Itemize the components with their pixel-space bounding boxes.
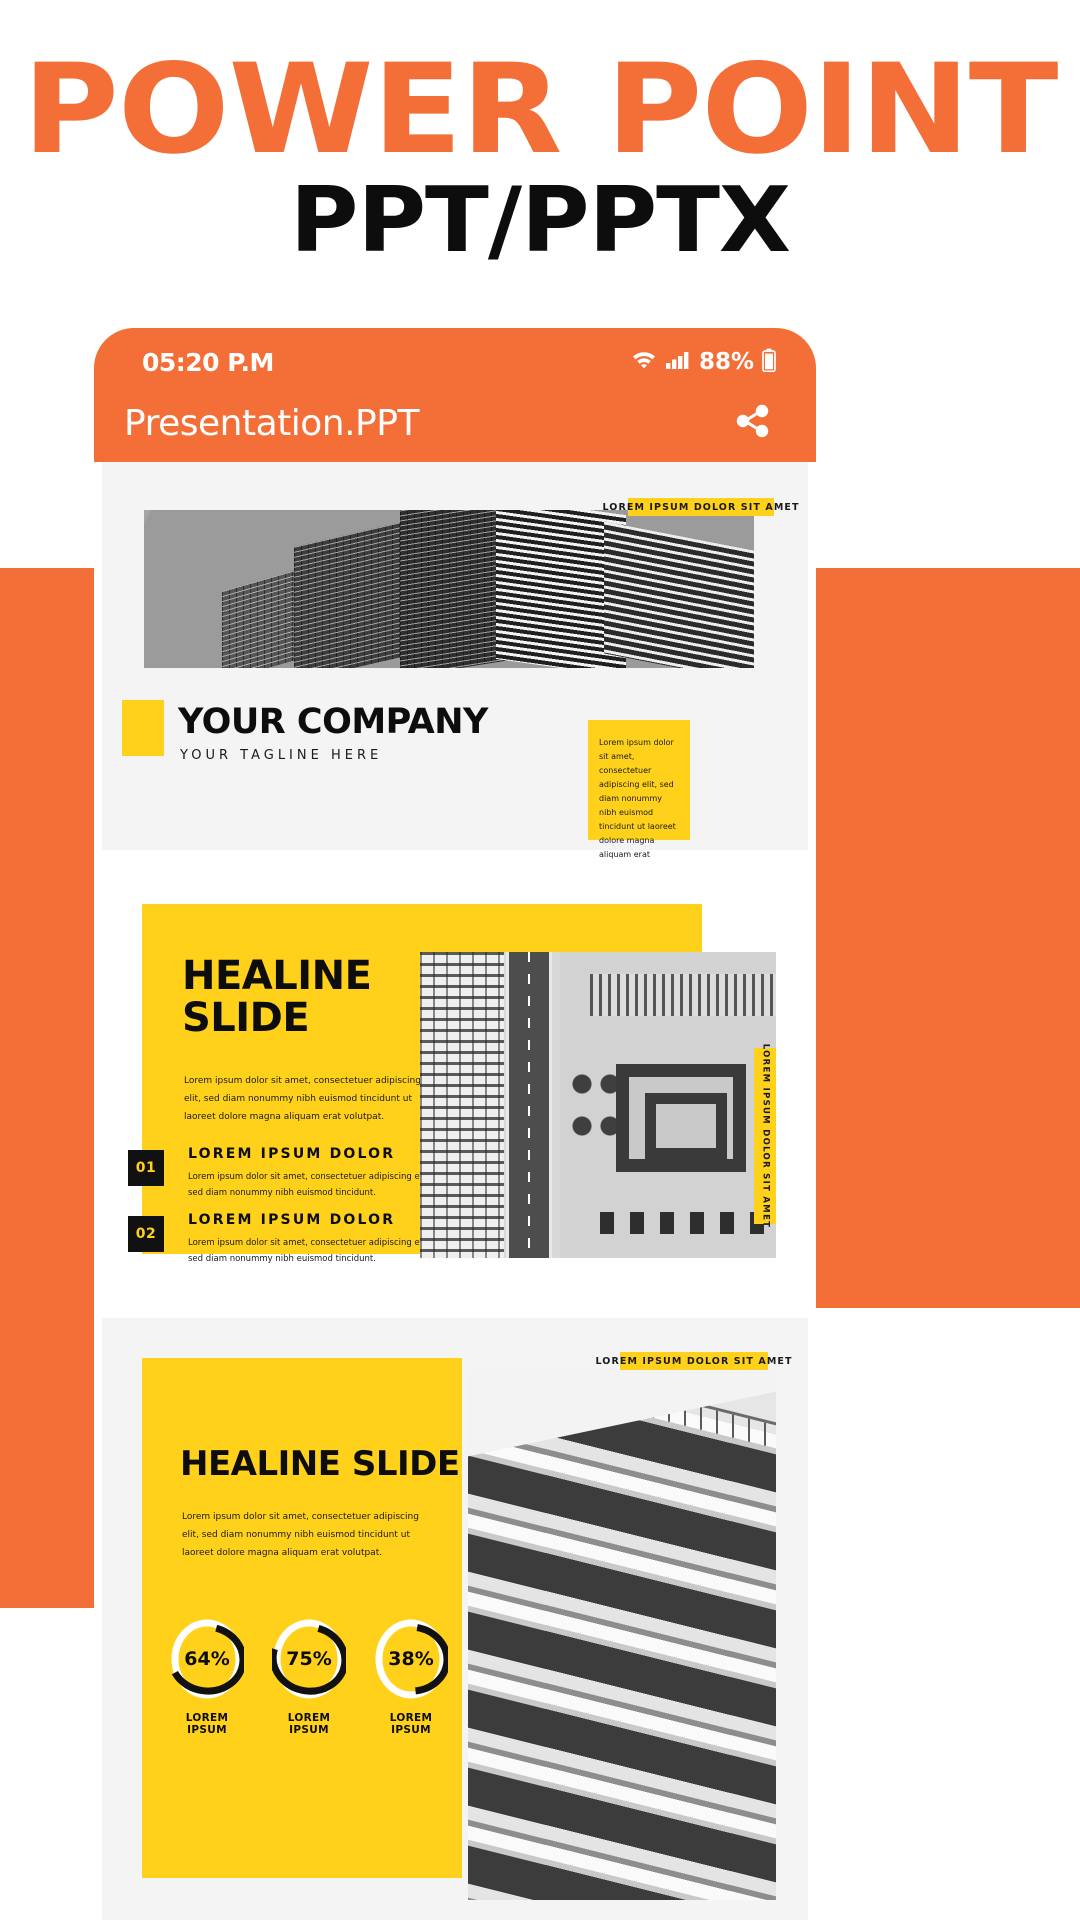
slide2-item-number: 02	[128, 1216, 164, 1252]
donut-chart-64: 64%	[170, 1618, 244, 1700]
slide2-title-line1: HEALINE	[182, 956, 371, 998]
slide2-vertical-tab-label: LOREM IPSUM DOLOR SIT AMET	[760, 1044, 770, 1229]
slide1-yellow-marker	[122, 700, 164, 756]
donut-stat: 38% LOREM IPSUM	[368, 1618, 454, 1736]
battery-percent-label: 88%	[699, 349, 754, 375]
status-bar: 05:20 P.M	[94, 328, 816, 390]
slide2-item-title: LOREM IPSUM DOLOR	[188, 1212, 395, 1228]
wifi-icon	[631, 350, 657, 375]
donut-value: 75%	[272, 1618, 346, 1700]
slide1-tagline: YOUR TAGLINE HERE	[180, 748, 382, 763]
slide2-item-title: LOREM IPSUM DOLOR	[188, 1146, 395, 1162]
slide-thumbnail-3[interactable]: LOREM IPSUM DOLOR SIT AMET HEALINE SLIDE…	[102, 1318, 808, 1920]
slide1-badge: LOREM IPSUM DOLOR SIT AMET	[628, 498, 774, 516]
skyscrapers-photo	[144, 510, 754, 668]
donut-value: 38%	[374, 1618, 448, 1700]
hero-banner: POWER POINT PPT/PPTX	[0, 0, 1080, 330]
slide3-body-text: Lorem ipsum dolor sit amet, consectetuer…	[182, 1508, 432, 1562]
slide-thumbnail-1[interactable]: LOREM IPSUM DOLOR SIT AMET YOUR COMPANY …	[102, 462, 808, 850]
status-icons: 88%	[631, 348, 776, 377]
donut-value: 64%	[170, 1618, 244, 1700]
slide3-badge: LOREM IPSUM DOLOR SIT AMET	[620, 1352, 768, 1370]
slide2-body-text: Lorem ipsum dolor sit amet, consectetuer…	[184, 1072, 434, 1126]
battery-icon	[762, 348, 776, 377]
donut-label: LOREM IPSUM	[164, 1712, 250, 1736]
modern-building-photo	[468, 1370, 776, 1900]
slide2-title-line2: SLIDE	[182, 998, 371, 1040]
slide1-body-text: Lorem ipsum dolor sit amet, consectetuer…	[588, 720, 690, 840]
slide-thumbnail-2[interactable]: HEALINE SLIDE Lorem ipsum dolor sit amet…	[102, 860, 808, 1308]
donut-stat: 75% LOREM IPSUM	[266, 1618, 352, 1736]
donut-chart-38: 38%	[374, 1618, 448, 1700]
page-subtitle: PPT/PPTX	[0, 176, 1080, 266]
slide2-item-desc: Lorem ipsum dolor sit amet, consectetuer…	[188, 1236, 438, 1267]
status-time: 05:20 P.M	[142, 348, 274, 377]
slide2-vertical-tab: LOREM IPSUM DOLOR SIT AMET	[754, 1048, 776, 1224]
phone-mockup: 05:20 P.M	[94, 328, 816, 1920]
donut-label: LOREM IPSUM	[368, 1712, 454, 1736]
slide1-title: YOUR COMPANY	[178, 702, 488, 742]
signal-bars-icon	[665, 350, 691, 375]
donut-chart-75: 75%	[272, 1618, 346, 1700]
donut-stat: 64% LOREM IPSUM	[164, 1618, 250, 1736]
aerial-city-photo	[420, 952, 776, 1258]
orange-accent-right	[814, 568, 1080, 1308]
slide2-title: HEALINE SLIDE	[182, 956, 371, 1039]
slides-scroll-area[interactable]: LOREM IPSUM DOLOR SIT AMET YOUR COMPANY …	[94, 462, 816, 1920]
phone-top-bar: 05:20 P.M	[94, 328, 816, 462]
donut-label: LOREM IPSUM	[266, 1712, 352, 1736]
page-title: POWER POINT	[0, 48, 1080, 172]
share-icon[interactable]	[732, 400, 774, 447]
slide2-item-number: 01	[128, 1150, 164, 1186]
slide3-stats-row: 64% LOREM IPSUM 75% LOREM IPSUM	[164, 1618, 454, 1736]
app-bar-title: Presentation.PPT	[124, 403, 419, 444]
slide2-item-desc: Lorem ipsum dolor sit amet, consectetuer…	[188, 1170, 438, 1201]
slide3-title: HEALINE SLIDE	[180, 1444, 460, 1484]
app-bar: Presentation.PPT	[94, 384, 816, 462]
